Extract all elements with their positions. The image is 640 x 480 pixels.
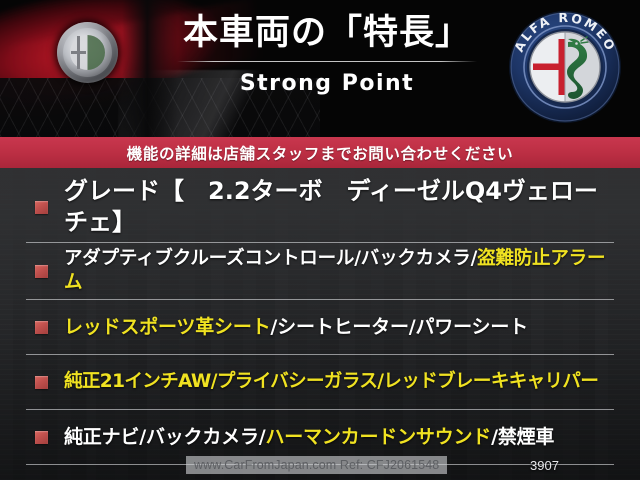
stock-number: 3907	[530, 458, 559, 473]
feature-plain-text: アダプティブクルーズコントロール/バックカメラ/	[64, 248, 477, 269]
vehicle-feature-slide: 本車両の「特長」 Strong Point	[0, 0, 640, 480]
page-title: 本車両の「特長」	[168, 14, 486, 53]
feature-highlight-text: レッドスポーツ革シート	[64, 316, 270, 338]
red-square-bullet	[35, 431, 48, 444]
page-subtitle: Strong Point	[168, 71, 486, 96]
feature-row: グレード【 2.2ターボ ディーゼルQ4ヴェローチェ】	[26, 172, 614, 243]
feature-row: アダプティブクルーズコントロール/バックカメラ/盗難防止アラーム	[26, 243, 614, 300]
header-car-photo: 本車両の「特長」 Strong Point	[0, 0, 640, 137]
watermark-text: www.CarFromJapan.com Ref: CFJ2061548	[186, 456, 447, 474]
feature-plain-text: /禁煙車	[491, 426, 554, 448]
contact-banner: 機能の詳細は店舗スタッフまでお問い合わせください	[0, 137, 640, 168]
feature-plain-text: /シートヒーター/パワーシート	[270, 316, 528, 338]
red-square-bullet	[35, 265, 48, 278]
feature-row-text: レッドスポーツ革シート/シートヒーター/パワーシート	[64, 315, 528, 340]
feature-plain-text: 純正ナビ/バックカメラ/	[64, 426, 265, 448]
red-square-bullet	[35, 201, 48, 214]
feature-row: 純正21インチAW/プライバシーガラス/レッドブレーキキャリパー	[26, 355, 614, 410]
contact-banner-text: 機能の詳細は店舗スタッフまでお問い合わせください	[127, 142, 513, 164]
feature-list: グレード【 2.2ターボ ディーゼルQ4ヴェローチェ】アダプティブクルーズコント…	[0, 172, 640, 452]
feature-row-text: グレード【 2.2ターボ ディーゼルQ4ヴェローチェ】	[64, 176, 614, 238]
car-alfa-romeo-emblem-icon	[57, 22, 118, 83]
feature-plain-text: グレード【 2.2ターボ ディーゼルQ4ヴェローチェ】	[64, 177, 598, 236]
header-title-block: 本車両の「特長」 Strong Point	[168, 14, 486, 96]
car-emblem-cross-icon	[71, 36, 86, 69]
feature-highlight-text: 純正21インチAW/プライバシーガラス/レッドブレーキキャリパー	[64, 371, 598, 392]
title-divider	[177, 61, 477, 62]
feature-row-text: 純正21インチAW/プライバシーガラス/レッドブレーキキャリパー	[64, 370, 598, 394]
feature-highlight-text: ハーマンカードンサウンド	[265, 426, 491, 448]
alfa-romeo-logo-icon: ALFA ROMEO	[506, 8, 624, 126]
feature-row-text: 純正ナビ/バックカメラ/ハーマンカードンサウンド/禁煙車	[64, 425, 554, 450]
red-square-bullet	[35, 321, 48, 334]
red-square-bullet	[35, 376, 48, 389]
feature-row: レッドスポーツ革シート/シートヒーター/パワーシート	[26, 300, 614, 355]
feature-row-text: アダプティブクルーズコントロール/バックカメラ/盗難防止アラーム	[64, 247, 614, 295]
